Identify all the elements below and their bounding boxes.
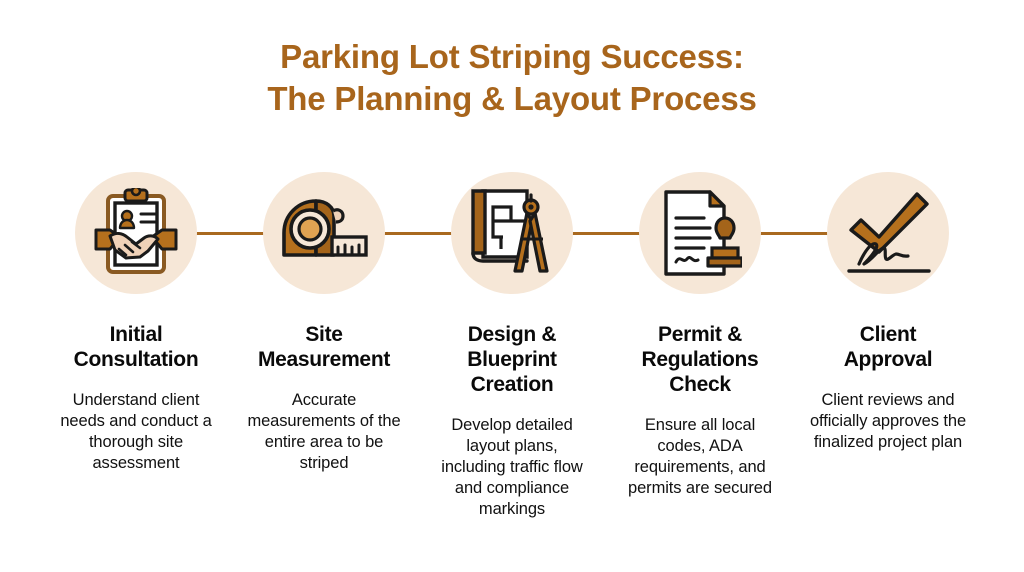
step-description: Client reviews and officially approves t…	[808, 390, 968, 453]
process-flow: Initial Consultation Understand client n…	[0, 172, 1024, 520]
step-title-line: Regulations	[642, 347, 759, 372]
step-description: Ensure all local codes, ADA requirements…	[620, 415, 780, 499]
step-title-line: Permit &	[642, 322, 759, 347]
step-title-line: Approval	[844, 347, 933, 372]
step-title-line: Check	[642, 372, 759, 397]
clipboard-handshake-icon	[75, 172, 197, 294]
step-description: Understand client needs and conduct a th…	[56, 390, 216, 474]
step-title-line: Site	[258, 322, 390, 347]
process-step-permit-regulations-check: Permit & Regulations Check Ensure all lo…	[606, 172, 794, 520]
step-title: Design & Blueprint Creation	[467, 322, 556, 397]
page-title: Parking Lot Striping Success: The Planni…	[0, 0, 1024, 120]
title-line-2: The Planning & Layout Process	[0, 78, 1024, 120]
title-line-1: Parking Lot Striping Success:	[0, 36, 1024, 78]
tape-measure-icon	[263, 172, 385, 294]
step-title-line: Consultation	[74, 347, 199, 372]
process-step-initial-consultation: Initial Consultation Understand client n…	[42, 172, 230, 520]
step-title: Initial Consultation	[74, 322, 199, 372]
step-title-line: Initial	[74, 322, 199, 347]
step-description: Develop detailed layout plans, including…	[432, 415, 592, 520]
step-title: Permit & Regulations Check	[642, 322, 759, 397]
blueprint-compass-icon	[451, 172, 573, 294]
step-title-line: Blueprint	[467, 347, 556, 372]
step-title-line: Creation	[467, 372, 556, 397]
step-title-line: Client	[844, 322, 933, 347]
step-title-line: Measurement	[258, 347, 390, 372]
process-step-client-approval: Client Approval Client reviews and offic…	[794, 172, 982, 520]
document-stamp-icon	[639, 172, 761, 294]
step-description: Accurate measurements of the entire area…	[244, 390, 404, 474]
process-step-site-measurement: Site Measurement Accurate measurements o…	[230, 172, 418, 520]
checkmark-signature-icon	[827, 172, 949, 294]
step-title: Site Measurement	[258, 322, 390, 372]
step-title: Client Approval	[844, 322, 933, 372]
step-title-line: Design &	[467, 322, 556, 347]
process-step-design-blueprint-creation: Design & Blueprint Creation Develop deta…	[418, 172, 606, 520]
